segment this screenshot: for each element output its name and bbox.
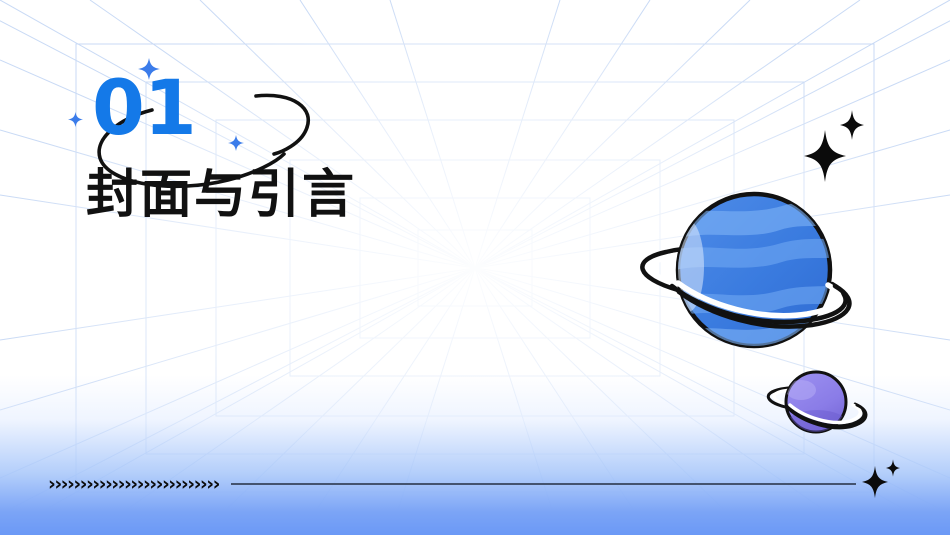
slide-canvas: 01 封面与引言 ››››››››››››››››››››››››››› [0, 0, 950, 535]
blue-ringed-planet [632, 182, 882, 387]
purple-ringed-planet [757, 362, 869, 446]
footer-rule-line [231, 483, 856, 484]
section-title: 封面与引言 [86, 166, 356, 224]
footer-sparkle-group [862, 471, 902, 497]
chevron-arrows: ››››››››››››››››››››››››››› [48, 475, 219, 494]
section-number: 01 [92, 72, 356, 144]
sparkle-black-icon [862, 465, 888, 499]
footer-decoration: ››››››››››››››››››››››››››› [48, 471, 902, 497]
section-heading-block: 01 封面与引言 [84, 72, 356, 224]
